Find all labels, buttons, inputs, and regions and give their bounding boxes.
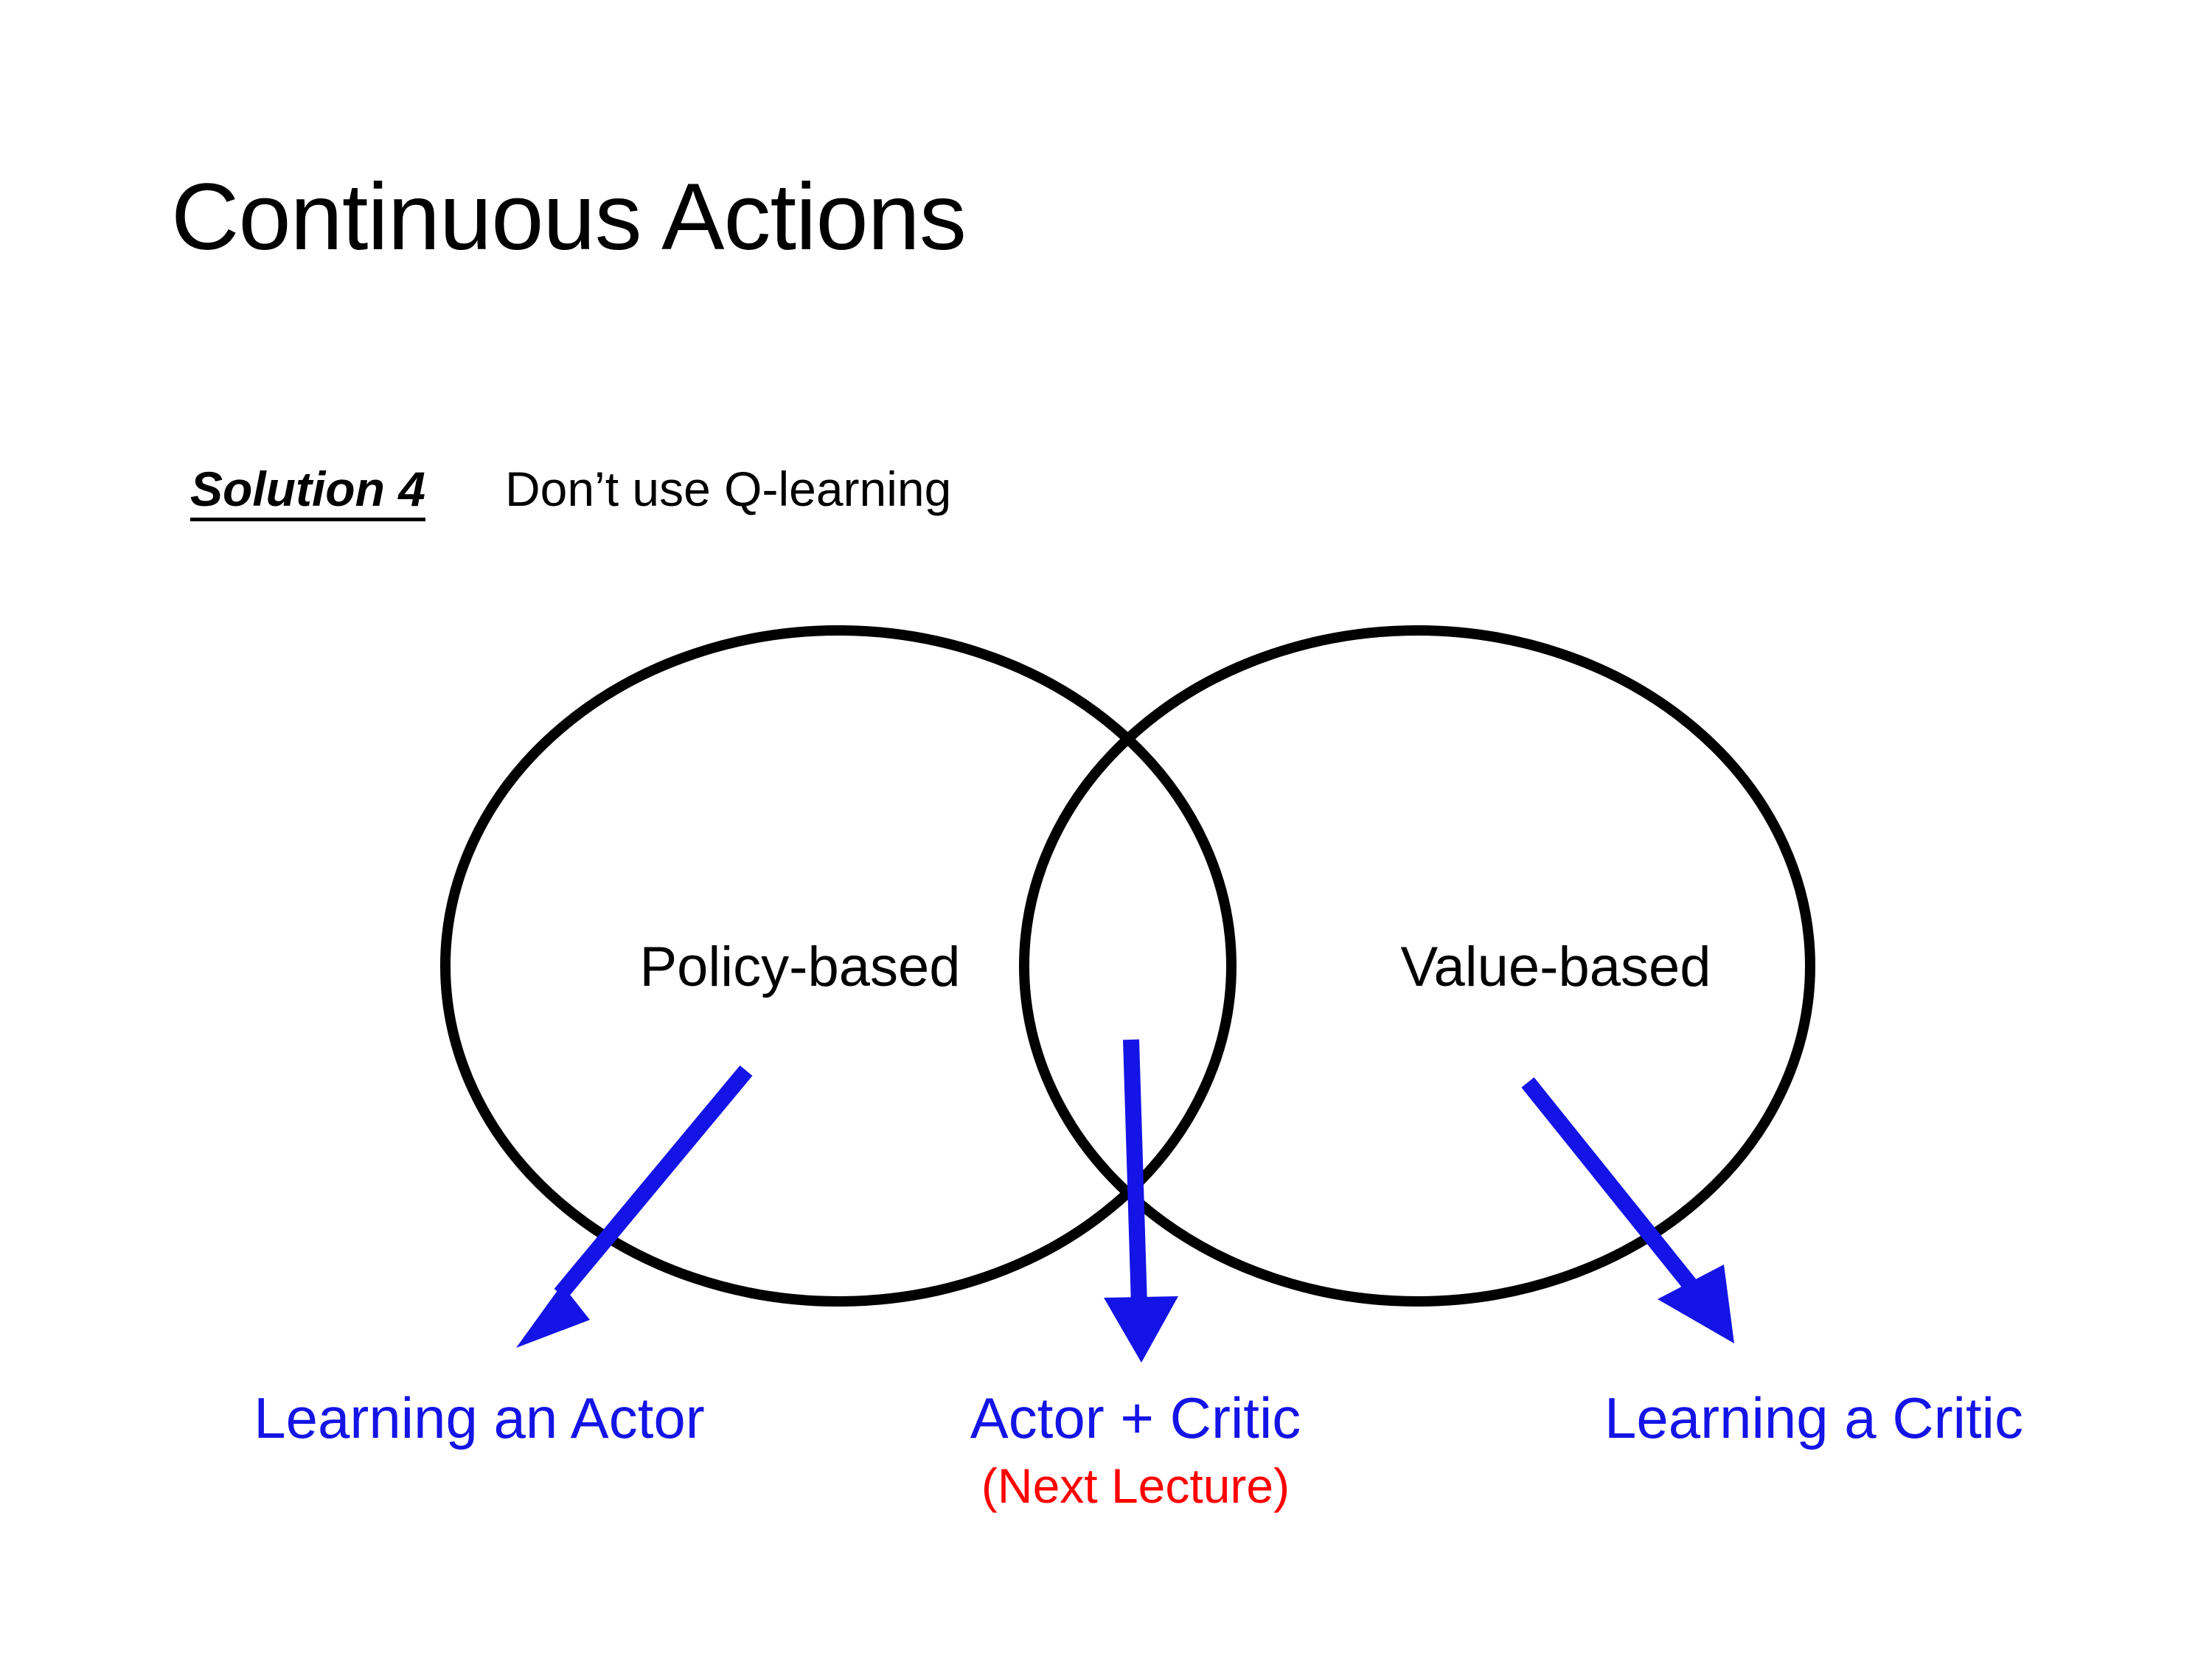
callout-label: Learning an Actor [111,1386,848,1450]
arrow-to-learning-an-actor [516,1071,746,1348]
solution-description: Don’t use Q-learning [505,461,951,517]
page-title: Continuous Actions [171,168,966,267]
policy-based-label: Policy-based [520,935,1080,999]
arrow-to-actor-plus-critic [1104,1040,1178,1363]
callout-label: Actor + Critic [848,1386,1423,1450]
solution-label: Solution 4 [190,461,425,517]
callout-learning-a-critic: Learning a Critic [1445,1386,2183,1450]
callout-label: Learning a Critic [1445,1386,2183,1450]
arrow-to-learning-a-critic [1528,1082,1734,1343]
callout-learning-an-actor: Learning an Actor [111,1386,848,1450]
callout-sublabel: (Next Lecture) [848,1458,1423,1514]
value-based-label: Value-based [1298,935,1814,999]
slide-canvas: Continuous Actions Solution 4 Don’t use … [0,0,2212,1659]
callout-actor-plus-critic: Actor + Critic (Next Lecture) [848,1386,1423,1514]
subtitle-row: Solution 4 Don’t use Q-learning [190,461,951,517]
